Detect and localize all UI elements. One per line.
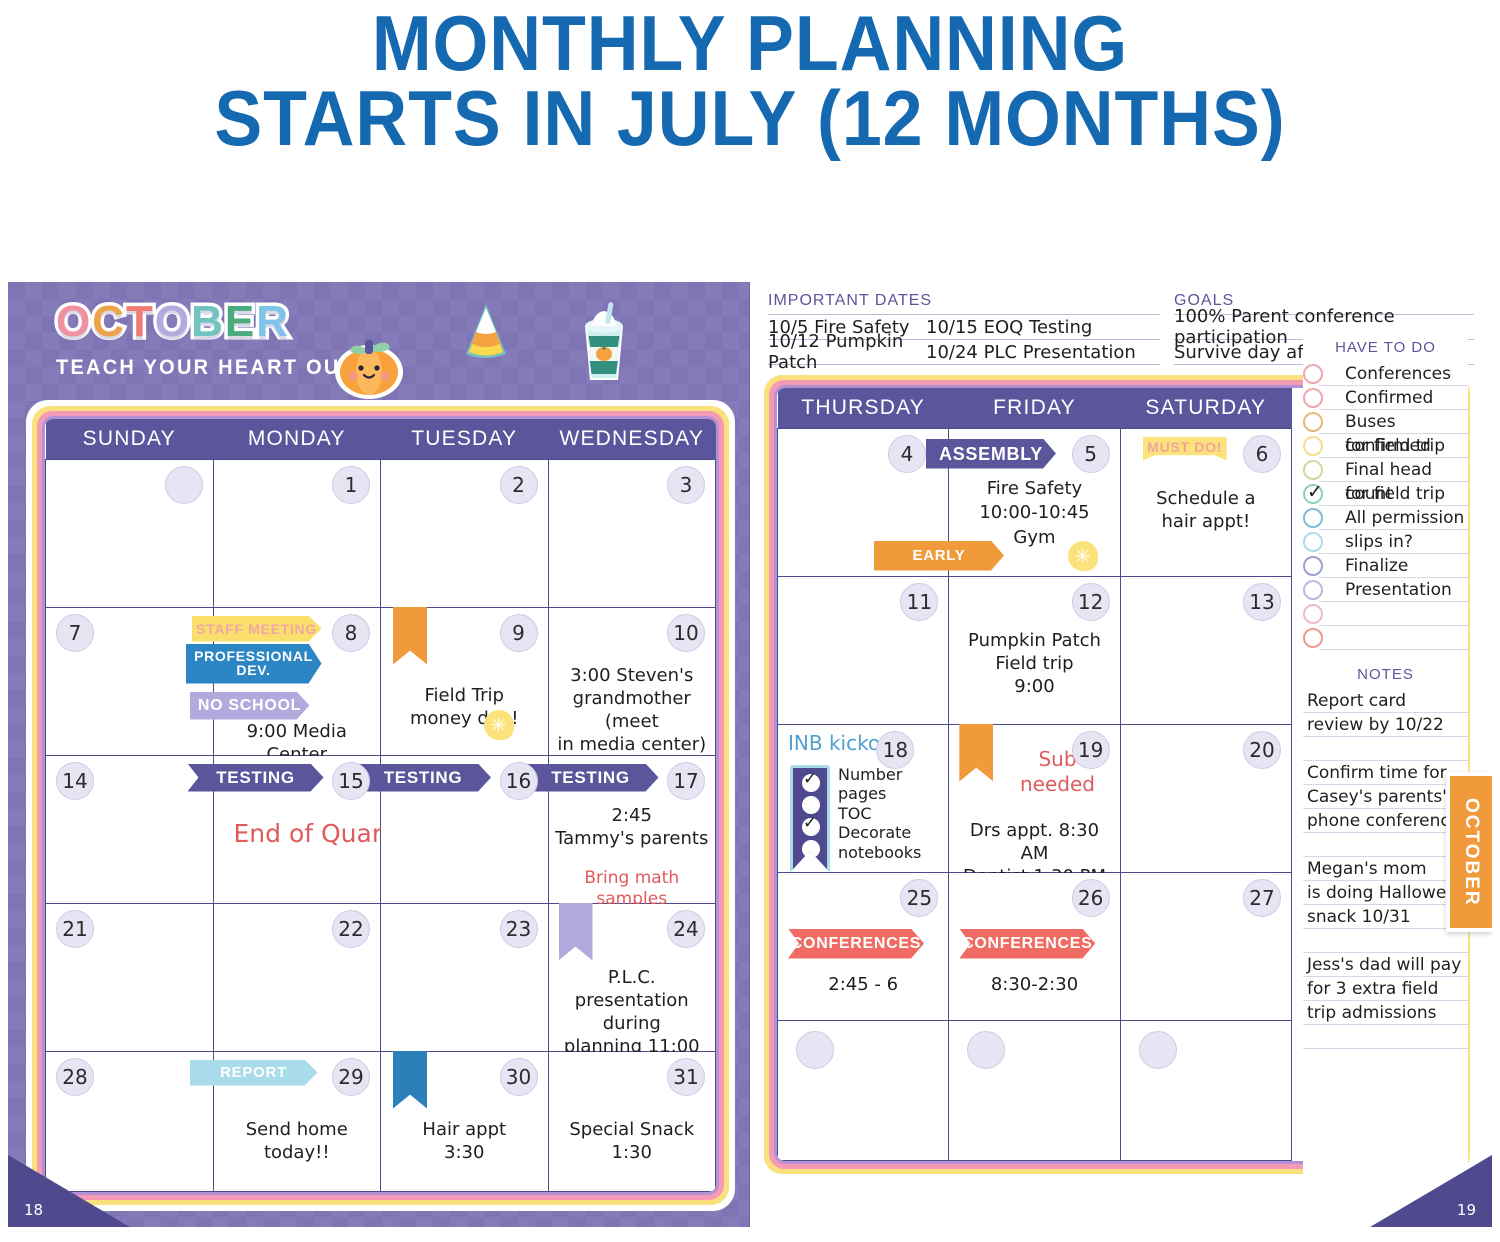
day-note: 2:45Tammy's parents <box>553 804 712 850</box>
have-to-do-text: slips in? <box>1345 532 1413 552</box>
day-note: 3:00 Steven'sgrandmother (meetin media c… <box>553 664 712 756</box>
day-number: 9 <box>500 614 538 652</box>
day-number: 2 <box>500 466 538 504</box>
weekday-header: SUNDAY <box>46 419 214 459</box>
day-number: 7 <box>56 614 94 652</box>
checkbox[interactable] <box>1303 628 1323 648</box>
calendar-day-cell[interactable]: 14 <box>46 755 214 903</box>
calendar-day-cell[interactable]: 3 <box>548 459 716 607</box>
notes-list[interactable]: Report cardreview by 10/22Confirm time f… <box>1303 689 1468 1049</box>
calendar-day-cell[interactable]: 30Hair appt3:30 <box>381 1051 549 1191</box>
calendar-day-cell[interactable]: 20 <box>1120 724 1291 872</box>
calendar-day-cell[interactable]: 4ASSEMBLYEARLY RELEASE <box>778 428 949 576</box>
important-dates-label: IMPORTANT DATES <box>768 292 1160 310</box>
day-number: 4 <box>888 435 926 473</box>
day-number-empty <box>165 466 203 504</box>
inb-checkbox[interactable] <box>802 796 820 814</box>
checkbox-checked[interactable] <box>1303 484 1323 504</box>
calendar-grid-left: SUNDAYMONDAYTUESDAYWEDNESDAY 12378STAFF … <box>45 419 716 1192</box>
banner-line: PROFESSIONAL <box>186 649 322 664</box>
marketing-headline: MONTHLY PLANNING STARTS IN JULY (12 MONT… <box>60 0 1440 156</box>
have-to-do-text: Conferences <box>1345 364 1451 384</box>
day-number: 29 <box>332 1058 370 1096</box>
day-number: 27 <box>1243 879 1281 917</box>
pumpkin-sticker <box>326 324 412 402</box>
month-letter: B <box>191 300 225 344</box>
inb-checkbox[interactable] <box>802 840 820 858</box>
checkbox[interactable] <box>1303 508 1323 528</box>
have-to-do-label: HAVE TO DO <box>1303 328 1468 362</box>
calendar-day-cell[interactable]: 28 <box>46 1051 214 1191</box>
inb-ribbon-sticker[interactable] <box>790 765 830 873</box>
checkbox[interactable] <box>1303 412 1323 432</box>
notes-line[interactable]: for 3 extra field <box>1303 977 1468 1001</box>
calendar-day-cell[interactable]: 2 <box>381 459 549 607</box>
notes-line[interactable]: Report card <box>1303 689 1468 713</box>
day-note: 8:30-2:30 <box>953 973 1115 996</box>
have-to-do-item[interactable]: Buses confirmed <box>1319 410 1468 434</box>
notes-line[interactable] <box>1303 929 1468 953</box>
day-number-empty <box>796 1031 834 1069</box>
notes-line[interactable]: Confirm time for <box>1303 761 1468 785</box>
day-number: 19 <box>1072 731 1110 769</box>
calendar-day-cell[interactable]: 22 <box>213 903 381 1051</box>
notes-line[interactable] <box>1303 833 1468 857</box>
checkbox[interactable] <box>1303 460 1323 480</box>
calendar-day-cell[interactable]: 17TESTING2:45Tammy's parentsBring math s… <box>548 755 716 903</box>
day-note: Special Snack1:30 <box>553 1118 712 1164</box>
day-number: 30 <box>500 1058 538 1096</box>
day-number: 31 <box>667 1058 705 1096</box>
calendar-day-cell[interactable]: 13 <box>1120 576 1291 724</box>
have-to-do-item[interactable]: slips in? <box>1319 530 1468 554</box>
planner-right-page: IMPORTANT DATES 10/5 Fire Safety10/15 EO… <box>750 282 1492 1227</box>
notes-line[interactable]: phone conference <box>1303 809 1468 833</box>
calendar-day-cell[interactable]: 1 <box>213 459 381 607</box>
day-note: Pumpkin PatchField trip9:00 <box>953 629 1115 698</box>
banner-sticker[interactable]: REPORT CARDS <box>190 1060 318 1086</box>
important-date-a: 10/12 Pumpkin Patch <box>768 331 926 373</box>
important-date-b: 10/24 PLC Presentation <box>926 342 1136 363</box>
calendar-day-cell[interactable]: 21 <box>46 903 214 1051</box>
day-number: 10 <box>667 614 705 652</box>
calendar-day-cell[interactable]: 23 <box>381 903 549 1051</box>
bookmark-ribbon[interactable] <box>559 903 593 961</box>
checkbox[interactable] <box>1303 532 1323 552</box>
day-note: Hair appt3:30 <box>385 1118 544 1164</box>
day-number-empty <box>967 1031 1005 1069</box>
banner-sticker[interactable]: TESTING <box>523 764 659 792</box>
planner-spread: OCTOBER TEACH YOUR HEART OUT. <box>8 282 1492 1227</box>
have-to-do-item[interactable]: Finalize <box>1319 554 1468 578</box>
checkbox[interactable] <box>1303 388 1323 408</box>
banner-line: DEV. <box>186 663 322 678</box>
calendar-day-cell[interactable] <box>778 1020 949 1160</box>
checkbox[interactable] <box>1303 604 1323 624</box>
calendar-day-cell[interactable]: 9Field Tripmoney due!✳ <box>381 607 549 755</box>
weekday-header: MONDAY <box>213 419 381 459</box>
notes-line[interactable]: snack 10/31 <box>1303 905 1468 929</box>
bookmark-ribbon[interactable] <box>393 1051 427 1109</box>
planner-left-page: OCTOBER TEACH YOUR HEART OUT. <box>8 282 750 1227</box>
important-dates-list[interactable]: 10/5 Fire Safety10/15 EOQ Testing10/12 P… <box>768 314 1160 365</box>
notes-line[interactable] <box>1303 737 1468 761</box>
calendar-day-cell[interactable]: 11 <box>778 576 949 724</box>
important-date-b: 10/15 EOQ Testing <box>926 317 1092 338</box>
month-letter: O <box>56 300 92 344</box>
day-number: 13 <box>1243 583 1281 621</box>
banner-sticker[interactable]: MUST DO! <box>1143 437 1227 461</box>
calendar-day-cell[interactable]: 103:00 Steven'sgrandmother (meetin media… <box>548 607 716 755</box>
calendar-day-cell[interactable] <box>1120 1020 1291 1160</box>
banner-sticker[interactable]: CONFERENCES <box>959 929 1095 959</box>
calendar-day-cell[interactable]: 8STAFF MEETINGPROFESSIONALDEV.NO SCHOOL9… <box>213 607 381 755</box>
calendar-day-cell[interactable]: 12Pumpkin PatchField trip9:00 <box>949 576 1120 724</box>
inb-kickoff-label: INB kickoff <box>788 731 944 757</box>
weekday-header: SATURDAY <box>1120 388 1291 428</box>
headline-line-2: STARTS IN JULY (12 MONTHS) <box>60 81 1440 156</box>
notes-line[interactable]: Megan's mom <box>1303 857 1468 881</box>
have-to-do-text: Finalize <box>1345 556 1408 576</box>
calendar-day-cell[interactable]: 19SubneededDrs appt. 8:30 AMDentist 1:30… <box>949 724 1120 872</box>
day-number: 22 <box>332 910 370 948</box>
day-number: 17 <box>667 762 705 800</box>
calendar-day-cell[interactable]: 18INB kickoffNumberpagesTOCDecoratenoteb… <box>778 724 949 872</box>
calendar-day-cell[interactable] <box>46 459 214 607</box>
notes-line[interactable]: trip admissions <box>1303 1001 1468 1025</box>
calendar-day-cell[interactable]: 29REPORT CARDSSend home today!! <box>213 1051 381 1191</box>
month-letter: R <box>256 300 290 344</box>
day-number: 14 <box>56 762 94 800</box>
day-number: 20 <box>1243 731 1281 769</box>
calendar-day-cell[interactable] <box>949 1020 1120 1160</box>
sun-sticker: ✳ <box>484 710 514 740</box>
important-date-row: 10/12 Pumpkin Patch10/24 PLC Presentatio… <box>768 340 1160 365</box>
day-note: P.L.C.presentation duringplanning 11:00 <box>553 966 712 1058</box>
sun-sticker: ✳ <box>1068 541 1098 571</box>
notes-line[interactable] <box>1303 1025 1468 1049</box>
have-to-do-item[interactable]: Conferences <box>1319 362 1468 386</box>
month-tab-label: OCTOBER <box>1460 798 1482 907</box>
day-number: 12 <box>1072 583 1110 621</box>
have-to-do-text: All permission <box>1345 508 1464 528</box>
notes-line[interactable]: Jess's dad will pay <box>1303 953 1468 977</box>
inb-checkbox-checked[interactable] <box>802 818 820 836</box>
banner-sticker[interactable]: TESTING <box>188 764 324 792</box>
notes-line[interactable]: is doing Halloween <box>1303 881 1468 905</box>
calendar-day-cell[interactable]: 25CONFERENCES2:45 - 6 <box>778 872 949 1020</box>
day-note: Send home today!! <box>218 1118 377 1164</box>
checkbox[interactable] <box>1303 436 1323 456</box>
side-column: HAVE TO DO ConferencesConfirmedBuses con… <box>1303 328 1468 1190</box>
notes-label: NOTES <box>1303 650 1468 689</box>
banner-sticker[interactable]: NO SCHOOL <box>190 692 310 720</box>
have-to-do-item[interactable]: for field trip <box>1319 434 1468 458</box>
page-number-right-value: 19 <box>1457 1201 1476 1219</box>
have-to-do-text: Presentation <box>1345 580 1452 600</box>
day-number: 11 <box>900 583 938 621</box>
calendar-rainbow-frame-left: SUNDAYMONDAYTUESDAYWEDNESDAY 12378STAFF … <box>26 400 735 1211</box>
month-tab-october[interactable]: OCTOBER <box>1446 772 1492 932</box>
month-letter: T <box>126 300 155 344</box>
day-number: 8 <box>332 614 370 652</box>
day-number: 25 <box>900 879 938 917</box>
day-note: NumberpagesTOCDecoratenotebooks <box>838 765 944 863</box>
day-note: Field Tripmoney due! <box>385 684 544 730</box>
day-number: 18 <box>876 731 914 769</box>
inb-checkbox-checked[interactable] <box>802 774 820 792</box>
banner-sticker[interactable]: TESTING <box>355 764 491 792</box>
calendar-day-cell[interactable]: 31Special Snack1:30 <box>548 1051 716 1191</box>
day-number: 3 <box>667 466 705 504</box>
day-note: Fire Safety10:00-10:45Gym <box>953 477 1115 551</box>
have-to-do-item[interactable]: All permission <box>1319 506 1468 530</box>
weekday-header: TUESDAY <box>381 419 549 459</box>
month-letter: O <box>155 300 191 344</box>
day-note: 2:45 - 6 <box>782 973 944 996</box>
banner-sticker[interactable]: PROFESSIONALDEV. <box>186 644 322 684</box>
weekday-header: FRIDAY <box>949 388 1120 428</box>
weekday-header: THURSDAY <box>778 388 949 428</box>
day-number: 15 <box>332 762 370 800</box>
have-to-do-text: Confirmed <box>1345 388 1433 408</box>
have-to-do-text: for field trip <box>1345 436 1445 456</box>
calendar-day-cell[interactable]: 24P.L.C.presentation duringplanning 11:0… <box>548 903 716 1051</box>
day-number: 23 <box>500 910 538 948</box>
have-to-do-text: for field trip <box>1345 484 1445 504</box>
day-note: Schedule ahair appt! <box>1125 487 1287 533</box>
calendar-day-cell[interactable]: 26CONFERENCES8:30-2:30 <box>949 872 1120 1020</box>
day-number: 16 <box>500 762 538 800</box>
month-letter: C <box>92 300 126 344</box>
have-to-do-item[interactable] <box>1319 626 1468 650</box>
day-number-empty <box>1139 1031 1177 1069</box>
day-number: 28 <box>56 1058 94 1096</box>
day-number: 1 <box>332 466 370 504</box>
banner-sticker[interactable]: EARLY RELEASE <box>874 541 1004 571</box>
notes-line[interactable]: review by 10/22 <box>1303 713 1468 737</box>
month-letter: E <box>225 300 256 344</box>
checkbox[interactable] <box>1303 580 1323 600</box>
calendar-day-cell[interactable]: 27 <box>1120 872 1291 1020</box>
notes-line[interactable]: Casey's parents' <box>1303 785 1468 809</box>
bookmark-ribbon[interactable] <box>393 607 427 665</box>
calendar-day-cell[interactable]: 15TESTINGEnd of Quarter <box>213 755 381 903</box>
banner-sticker[interactable]: CONFERENCES <box>788 929 924 959</box>
important-dates-section: IMPORTANT DATES 10/5 Fire Safety10/15 EO… <box>768 292 1160 365</box>
have-to-do-list[interactable]: ConferencesConfirmedBuses confirmedfor f… <box>1303 362 1468 650</box>
have-to-do-item[interactable]: Presentation <box>1319 578 1468 602</box>
have-to-do-item[interactable]: Final head count <box>1319 458 1468 482</box>
banner-sticker[interactable]: ASSEMBLY <box>926 439 1056 469</box>
have-to-do-item[interactable] <box>1319 602 1468 626</box>
weekday-header: WEDNESDAY <box>548 419 716 459</box>
candy-corn-sticker <box>460 300 512 362</box>
checkbox[interactable] <box>1303 364 1323 384</box>
page-number-left-value: 18 <box>24 1201 43 1219</box>
day-number: 6 <box>1243 435 1281 473</box>
have-to-do-item[interactable]: for field trip <box>1319 482 1468 506</box>
month-masthead: OCTOBER TEACH YOUR HEART OUT. <box>8 282 749 400</box>
banner-sticker[interactable]: STAFF MEETING <box>192 616 322 642</box>
have-to-do-item[interactable]: Confirmed <box>1319 386 1468 410</box>
pumpkin-drink-sticker <box>573 300 635 386</box>
day-number: 5 <box>1072 435 1110 473</box>
calendar-day-cell[interactable]: 16TESTING <box>381 755 549 903</box>
day-number: 24 <box>667 910 705 948</box>
checkbox[interactable] <box>1303 556 1323 576</box>
day-number: 26 <box>1072 879 1110 917</box>
bookmark-ribbon[interactable] <box>959 724 993 782</box>
calendar-day-cell[interactable]: 6MUST DO!Schedule ahair appt! <box>1120 428 1291 576</box>
day-number: 21 <box>56 910 94 948</box>
